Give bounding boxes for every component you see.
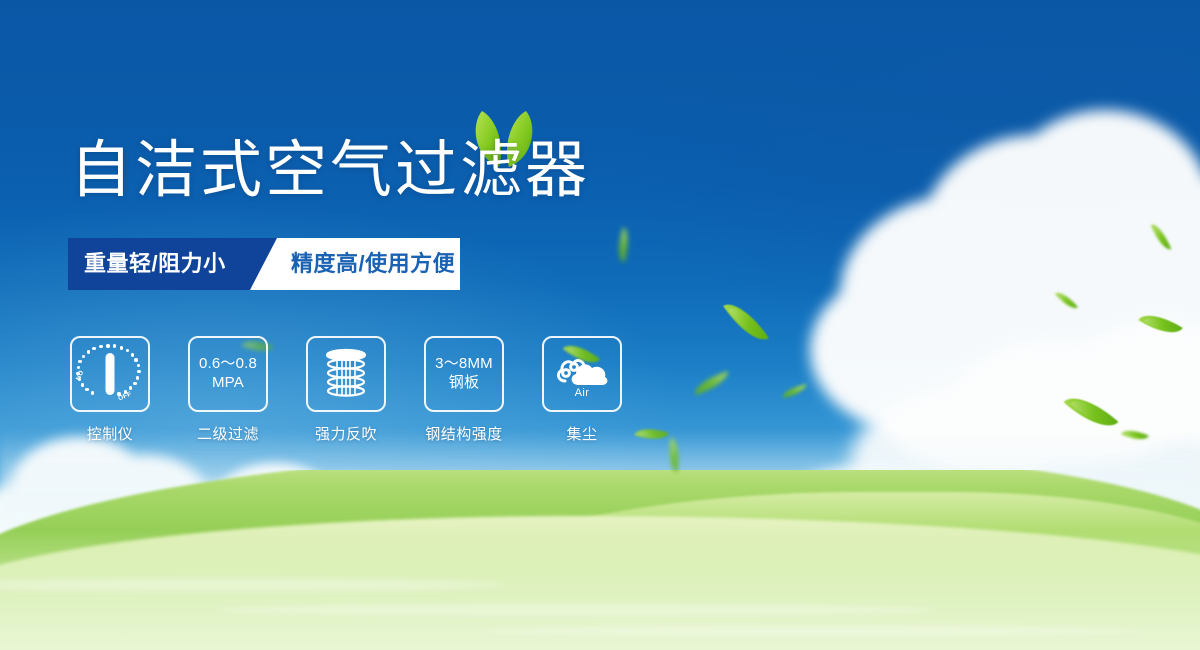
feature-item-control-meter[interactable]: NO OFF 控制仪 bbox=[70, 336, 150, 444]
feature-item-dust-collection[interactable]: Air 集尘 bbox=[542, 336, 622, 444]
grass-hill-near bbox=[0, 516, 1200, 650]
subtitle-text-right: 精度高/使用方便 bbox=[291, 238, 455, 290]
feature-item-strong-blowback[interactable]: 强力反吹 bbox=[306, 336, 386, 444]
feature-label-two-stage-filter: 二级过滤 bbox=[197, 423, 259, 444]
dial-gauge-icon: NO OFF bbox=[72, 338, 148, 410]
dial-needle bbox=[106, 353, 115, 395]
grass-field bbox=[0, 470, 1200, 650]
feature-label-control-meter: 控制仪 bbox=[87, 423, 134, 444]
air-label: Air bbox=[553, 387, 611, 399]
feature-box-two-stage-filter: 0.6～0.8 MPA bbox=[188, 336, 268, 412]
subtitle-bar: 重量轻/阻力小 精度高/使用方便 bbox=[68, 238, 460, 290]
filter-cartridge-icon bbox=[320, 346, 372, 402]
feature-label-dust-collection: 集尘 bbox=[566, 423, 597, 444]
pressure-text-icon: 0.6～0.8 MPA bbox=[199, 355, 257, 393]
steel-plate-text-icon: 3～8MM 钢板 bbox=[435, 355, 493, 393]
feature-item-two-stage-filter[interactable]: 0.6～0.8 MPA 二级过滤 bbox=[188, 336, 268, 444]
feature-list: NO OFF 控制仪 0.6～0.8 MPA 二级过滤 bbox=[70, 336, 622, 444]
page-title: 自洁式空气过滤器 bbox=[70, 140, 590, 202]
feature-label-strong-blowback: 强力反吹 bbox=[315, 423, 377, 444]
feature-box-strong-blowback bbox=[306, 336, 386, 412]
product-banner: 自洁式空气过滤器 重量轻/阻力小 精度高/使用方便 bbox=[0, 0, 1200, 650]
feature-item-steel-strength[interactable]: 3～8MM 钢板 钢结构强度 bbox=[424, 336, 504, 444]
feature-label-steel-strength: 钢结构强度 bbox=[425, 423, 503, 444]
feature-box-steel-strength: 3～8MM 钢板 bbox=[424, 336, 504, 412]
cloud-air-icon: Air bbox=[553, 351, 611, 397]
feature-box-dust-collection: Air bbox=[542, 336, 622, 412]
subtitle-text-left: 重量轻/阻力小 bbox=[84, 238, 226, 290]
feature-box-control-meter: NO OFF bbox=[70, 336, 150, 412]
